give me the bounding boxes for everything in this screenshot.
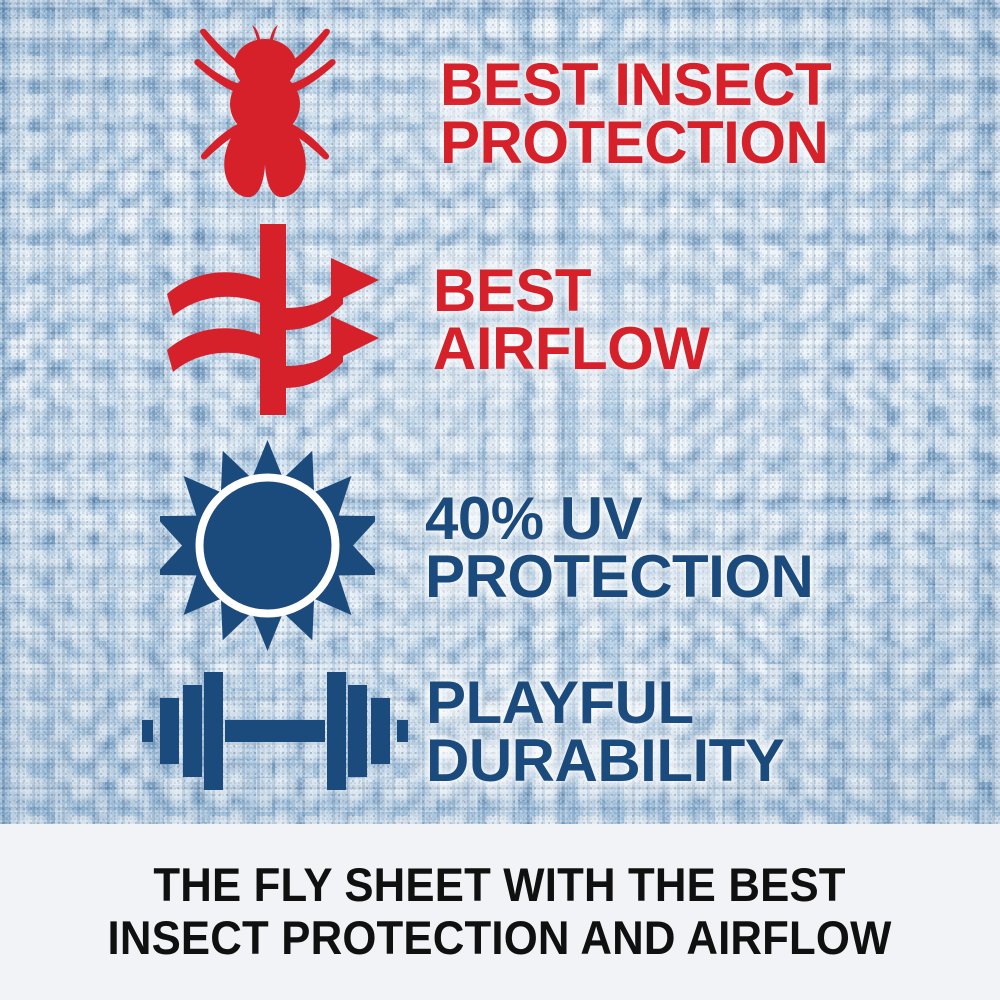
feature-row-airflow: BEST AIRFLOW: [155, 222, 709, 417]
feature-row-insect-protection: BEST INSECT PROTECTION: [170, 18, 831, 208]
caption-band: THE FLY SHEET WITH THE BEST INSECT PROTE…: [0, 824, 1000, 1000]
feature-row-durability: PLAYFUL DURABILITY: [130, 648, 784, 813]
dumbbell-icon: [130, 648, 420, 813]
feature-label-uv-protection: 40% UV PROTECTION: [425, 490, 813, 605]
fly-icon: [170, 18, 360, 208]
feature-label-airflow: BEST AIRFLOW: [433, 262, 709, 377]
feature-row-uv-protection: 40% UV PROTECTION: [160, 438, 813, 653]
product-feature-poster: BEST INSECT PROTECTION: [0, 0, 1000, 1000]
caption-text: THE FLY SHEET WITH THE BEST INSECT PROTE…: [108, 859, 892, 964]
feature-label-durability: PLAYFUL DURABILITY: [426, 674, 784, 789]
sun-uv-icon: [160, 438, 375, 653]
airflow-arrows-icon: [163, 222, 393, 417]
feature-label-insect-protection: BEST INSECT PROTECTION: [440, 56, 831, 171]
feature-list: BEST INSECT PROTECTION: [0, 0, 1000, 824]
